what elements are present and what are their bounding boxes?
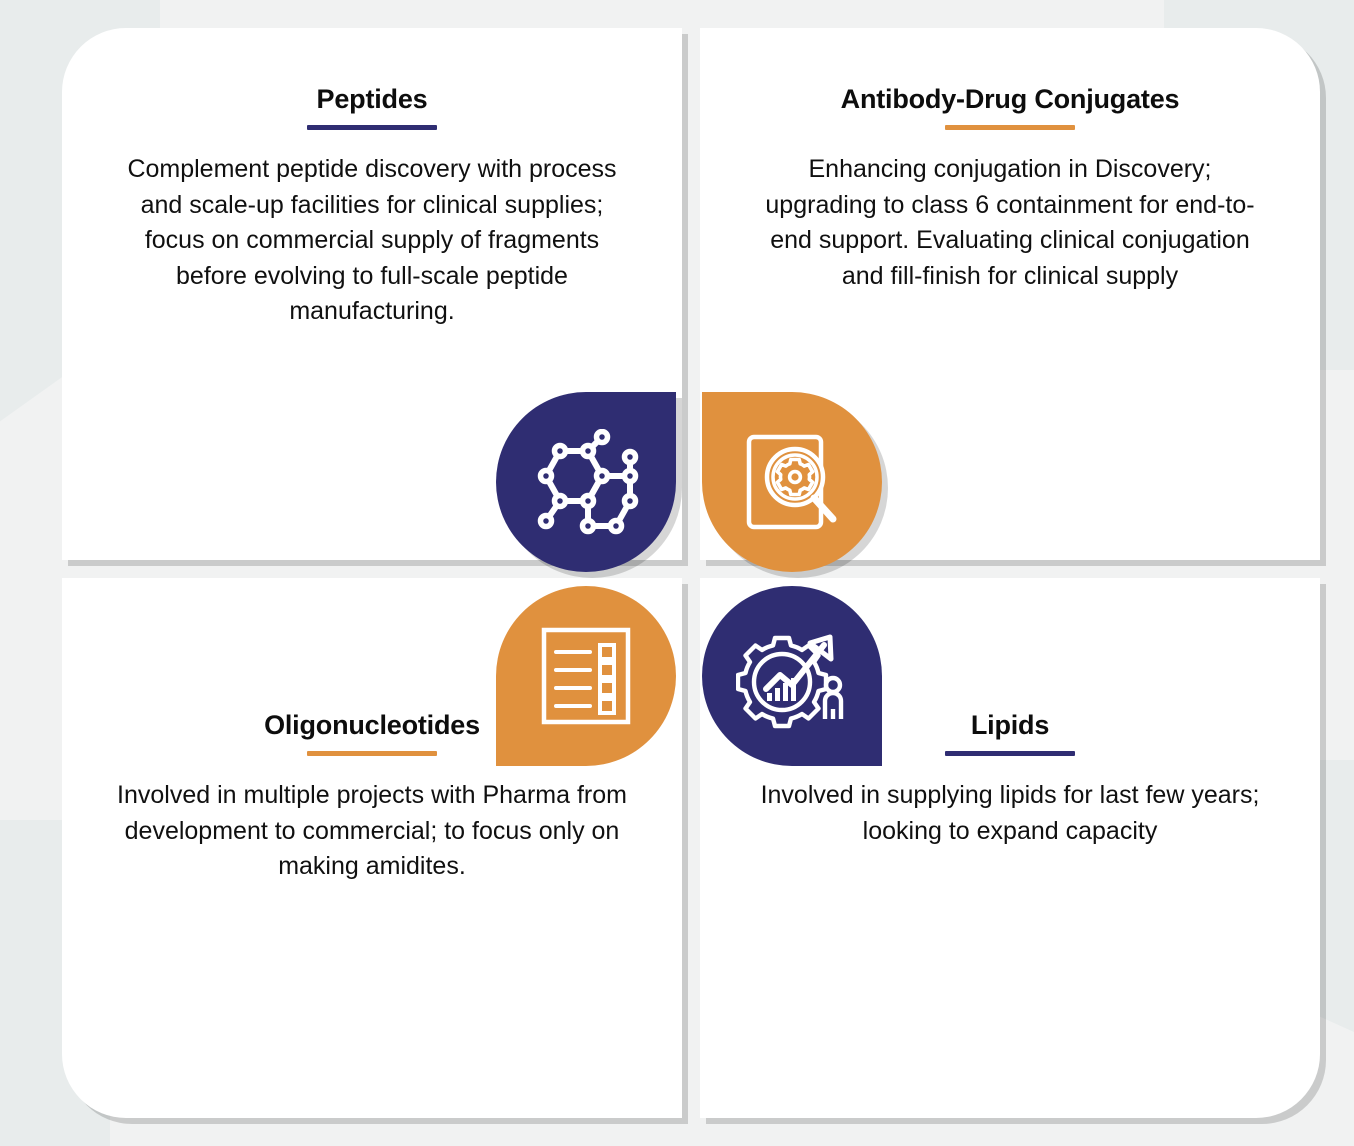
checklist-icon: [538, 624, 634, 728]
title-underline-lipids: [945, 751, 1075, 756]
title-underline-oligonucleotides: [307, 751, 437, 756]
slide-canvas: Peptides Complement peptide discovery wi…: [0, 0, 1354, 1146]
quadrant-title-peptides: Peptides: [88, 84, 656, 115]
quadrant-content-antibody-drug-conjugates: Antibody-Drug Conjugates Enhancing conju…: [700, 84, 1320, 294]
quadrant-title-antibody-drug-conjugates: Antibody-Drug Conjugates: [726, 84, 1294, 115]
quadrant-content-peptides: Peptides Complement peptide discovery wi…: [62, 84, 682, 330]
person-glyph: [825, 678, 841, 719]
gear-growth-person-icon: [736, 623, 848, 729]
icon-badge-antibody-drug-conjugates[interactable]: [702, 392, 882, 572]
quadrant-body-oligonucleotides: Involved in multiple projects with Pharm…: [112, 778, 632, 885]
title-underline-antibody-drug-conjugates: [945, 125, 1075, 130]
quadrant-body-peptides: Complement peptide discovery with proces…: [112, 152, 632, 330]
icon-badge-peptides[interactable]: [496, 392, 676, 572]
title-underline-peptides: [307, 125, 437, 130]
icon-badge-lipids[interactable]: [702, 586, 882, 766]
icon-badge-oligonucleotides[interactable]: [496, 586, 676, 766]
document-magnifier-gear-icon: [739, 429, 845, 535]
molecule-icon: [530, 429, 642, 535]
quadrant-body-lipids: Involved in supplying lipids for last fe…: [750, 778, 1270, 849]
quadrant-body-antibody-drug-conjugates: Enhancing conjugation in Discovery; upgr…: [750, 152, 1270, 294]
